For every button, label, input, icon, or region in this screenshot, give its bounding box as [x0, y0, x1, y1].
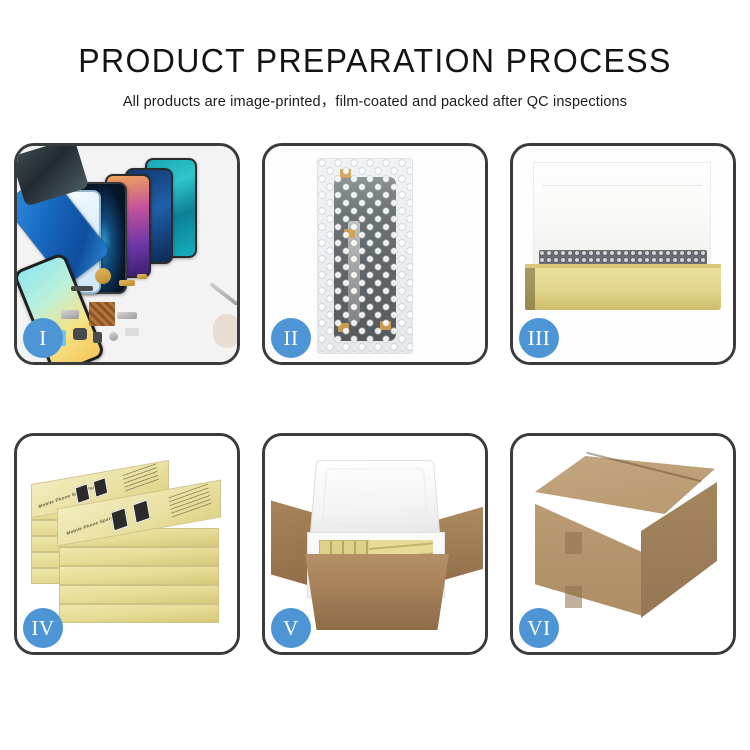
mailer-box-body: [525, 268, 721, 310]
page-subtitle: All products are image-printed，film-coat…: [0, 90, 750, 111]
step-badge-2: II: [271, 318, 311, 358]
step-panel-5[interactable]: V: [262, 433, 488, 655]
step-panel-1[interactable]: I: [14, 143, 240, 365]
part-bracket-a: [61, 310, 79, 319]
stacked-box-front-3: [59, 566, 219, 585]
part-flex-strip: [71, 286, 93, 291]
step-image-2: II: [265, 146, 485, 362]
part-connector-a: [119, 280, 135, 286]
box-label-window-rear-2: [93, 477, 109, 498]
step-badge-3: III: [519, 318, 559, 358]
box-label-window-front-2: [132, 499, 150, 523]
box-label-window-front-1: [110, 507, 128, 531]
part-sim-tray: [93, 332, 102, 343]
steps-grid: I II: [14, 143, 736, 655]
part-screw-set: [109, 332, 118, 341]
header: PRODUCT PREPARATION PROCESS All products…: [0, 0, 750, 111]
bubble-wrap-bag: [317, 158, 413, 354]
step-image-3: III: [513, 146, 733, 362]
stacked-box-front-2: [59, 585, 219, 604]
step-image-6: VI: [513, 436, 733, 652]
step-image-1: I: [17, 146, 237, 362]
box-stack: Mobile Phone Spare Parts Mobile Phone Sp…: [31, 458, 231, 638]
box-label-window-rear-1: [75, 483, 91, 504]
shipping-carton-open: [305, 554, 449, 630]
part-logic-board: [89, 302, 115, 326]
repair-hand: [213, 314, 237, 348]
page-title: PRODUCT PREPARATION PROCESS: [11, 42, 739, 80]
part-speaker-coil: [95, 268, 111, 284]
step-image-5: V: [265, 436, 485, 652]
step-panel-4[interactable]: Mobile Phone Spare Parts Mobile Phone Sp…: [14, 433, 240, 655]
bubble-texture: [318, 159, 412, 353]
part-adhesive: [125, 328, 139, 336]
mailer-box-side-panel: [525, 268, 535, 310]
step-badge-1: I: [23, 318, 63, 358]
foam-box-lid: [310, 460, 441, 538]
stacked-box-front-4: [59, 547, 219, 566]
step-badge-5: V: [271, 608, 311, 648]
step-image-4: Mobile Phone Spare Parts Mobile Phone Sp…: [17, 436, 237, 652]
step-panel-3[interactable]: III: [510, 143, 736, 365]
step-panel-6[interactable]: VI: [510, 433, 736, 655]
box-label-spec-lines-rear: [123, 463, 160, 494]
part-bracket-b: [117, 312, 137, 319]
stacked-box-front-1: [59, 604, 219, 623]
part-connector-b: [137, 274, 147, 279]
carton-tape-lower: [565, 586, 582, 608]
step-badge-4: IV: [23, 608, 63, 648]
part-camera-module: [73, 328, 87, 340]
box-label-spec-lines-front: [168, 484, 211, 519]
step-badge-6: VI: [519, 608, 559, 648]
product-preparation-infographic: PRODUCT PREPARATION PROCESS All products…: [0, 0, 750, 750]
carton-tape-upper: [565, 532, 582, 554]
step-panel-2[interactable]: II: [262, 143, 488, 365]
